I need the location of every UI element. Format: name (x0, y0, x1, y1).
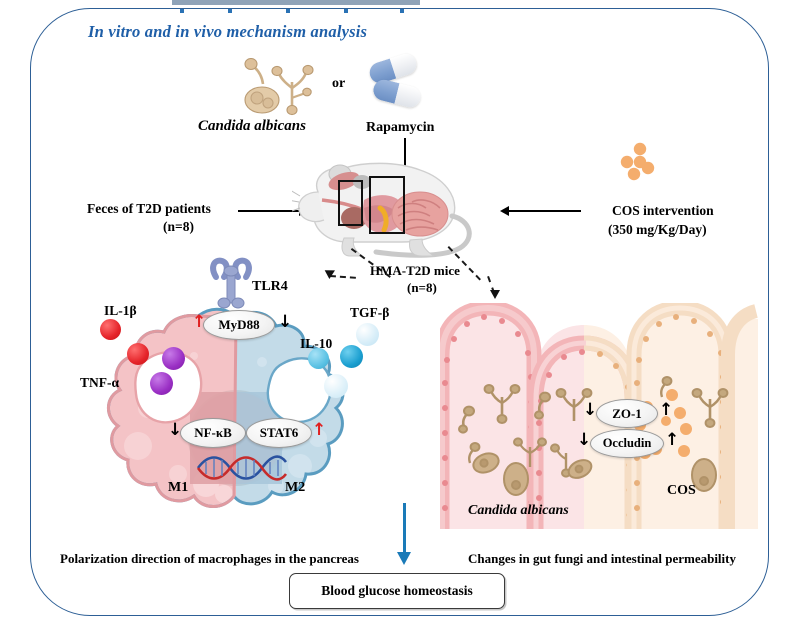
occludin-down-arrow: ↓ (577, 430, 591, 450)
stat6-label: STAT6 (260, 425, 299, 441)
tnfa-sphere (162, 347, 185, 370)
figure-title: In vitro and in vivo mechanism analysis (88, 22, 367, 42)
intestine-selection-box (369, 176, 405, 234)
stat6-node: STAT6 (246, 418, 312, 448)
outcome-arrow-stem (403, 503, 406, 555)
tnfa-label: TNF-α (80, 375, 119, 391)
occludin-node: Occludin (590, 429, 664, 458)
hma-mice-label-line1: HMA-T2D mice (370, 263, 460, 279)
nfkb-down-arrow: ↓ (168, 420, 182, 440)
m2-label: M2 (285, 480, 305, 496)
tlr4-receptor-icon (206, 255, 256, 317)
figure-canvas: In vitro and in vivo mechanism analysis … (0, 0, 799, 627)
rapamycin-label: Rapamycin (366, 120, 434, 136)
hma-mice-label-line2: (n=8) (407, 280, 437, 296)
candida-albicans-icon (232, 58, 324, 120)
feces-input-line1: Feces of T2D patients (87, 201, 211, 217)
myd88-up-arrow: ↑ (192, 312, 206, 332)
stat6-up-arrow: ↑ (312, 420, 326, 440)
blood-glucose-homeostasis-box: Blood glucose homeostasis (289, 573, 505, 609)
cos-arrow-line (509, 210, 581, 212)
occludin-up-arrow: ↑ (665, 430, 679, 450)
il1b-label: IL-1β (104, 303, 137, 319)
tgfb-sphere (356, 323, 379, 346)
macrophage-caption: Polarization direction of macrophages in… (60, 551, 359, 567)
gut-candida-label: Candida albicans (468, 503, 569, 519)
or-label: or (332, 76, 345, 92)
zo1-node: ZO-1 (596, 399, 658, 428)
il1b-sphere (100, 319, 121, 340)
tgfb-label: TGF-β (350, 305, 389, 321)
candida-albicans-label: Candida albicans (198, 118, 306, 135)
cos-input-line2: (350 mg/Kg/Day) (608, 222, 707, 238)
cos-arrowhead (500, 206, 509, 216)
m1-label: M1 (168, 480, 188, 496)
nfkb-label: NF-κB (194, 425, 232, 441)
tgfb-sphere (324, 374, 348, 398)
zo1-up-arrow: ↑ (659, 400, 673, 420)
tnfa-sphere (150, 372, 173, 395)
il10-sphere (340, 345, 363, 368)
mouse-illustration (292, 152, 482, 260)
cos-input-line1: COS intervention (612, 203, 714, 219)
intestine-caption: Changes in gut fungi and intestinal perm… (468, 551, 736, 567)
blood-glucose-homeostasis-label: Blood glucose homeostasis (321, 583, 473, 599)
il10-label: IL-10 (300, 336, 332, 352)
pancreas-selection-box (338, 180, 363, 226)
occludin-label: Occludin (603, 436, 652, 451)
gut-cos-label: COS (667, 483, 696, 499)
mouse-to-gut-arrowhead (490, 290, 500, 299)
myd88-label: MyD88 (218, 317, 259, 333)
feces-arrow-line (238, 210, 300, 212)
nfkb-node: NF-κB (180, 418, 246, 448)
cos-molecule-icon (618, 142, 658, 184)
zo1-down-arrow: ↓ (583, 400, 597, 420)
zo1-label: ZO-1 (612, 406, 642, 422)
tlr4-label: TLR4 (252, 279, 288, 295)
top-grey-bar (172, 0, 420, 5)
outcome-arrow-head (397, 552, 411, 565)
myd88-down-arrow: ↓ (278, 312, 292, 332)
il1b-sphere (127, 343, 149, 365)
myd88-node: MyD88 (203, 310, 275, 340)
feces-input-line2: (n=8) (163, 219, 194, 235)
